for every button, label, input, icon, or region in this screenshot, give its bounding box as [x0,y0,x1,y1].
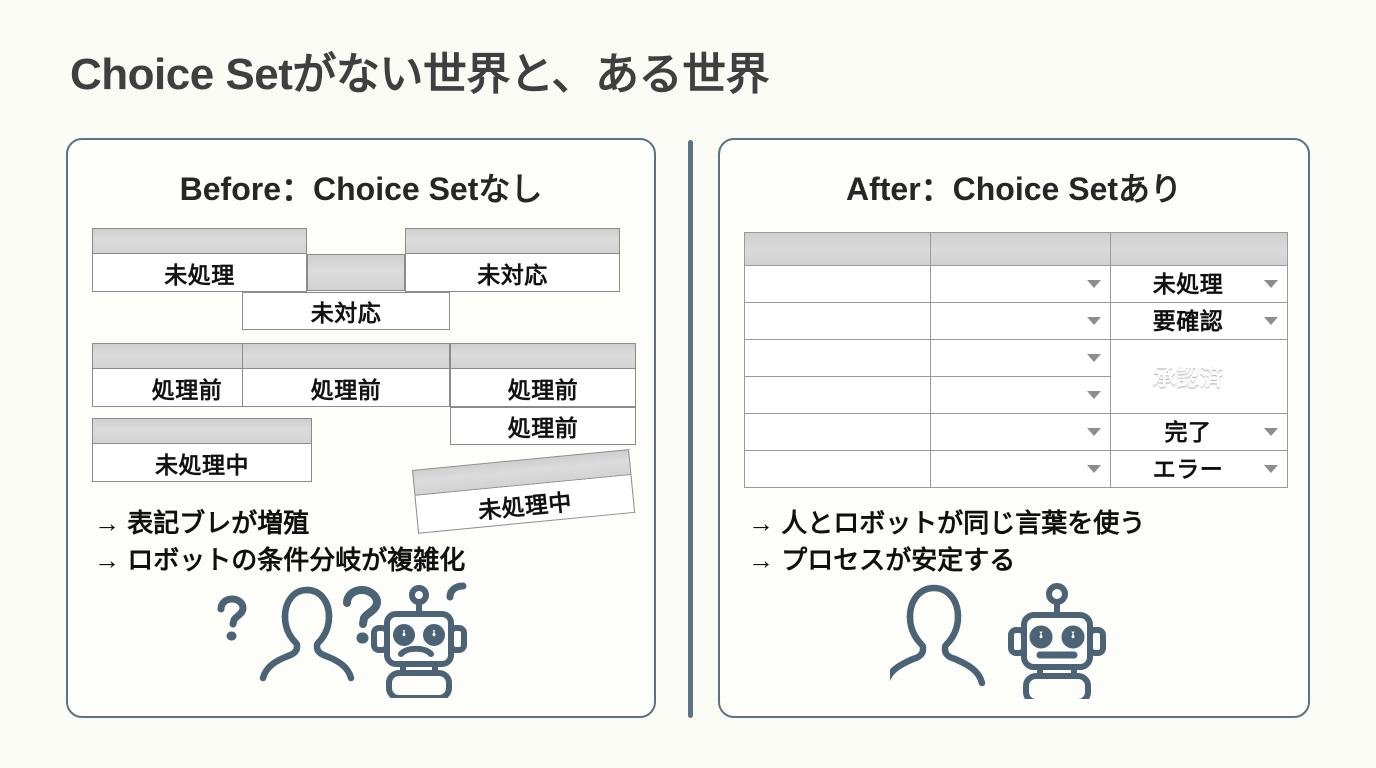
status-dropdown-cell[interactable]: 要確認 [1111,303,1288,340]
chevron-down-icon [1087,391,1101,399]
table-fragment-shorimae-3: 処理前 [450,343,636,407]
table-row: 要確認 [745,303,1288,340]
table-row: 完了 [745,414,1288,451]
chevron-down-icon [1087,354,1101,362]
row-cell-blank[interactable] [745,340,931,377]
person-silhouette-icon [263,590,351,678]
after-panel-title: After：Choice Setあり [720,164,1308,210]
after-bullet-list: → 人とロボットが同じ言葉を使う → プロセスが安定する [748,505,1145,579]
table-fragment-mitaio-2: 未対応 [242,292,450,330]
status-value: エラー [1111,451,1287,487]
row-dropdown-blank[interactable] [931,414,1111,451]
status-dropdown-cell[interactable]: エラー [1111,451,1288,488]
table-fragment-shorimae-4: 処理前 [450,407,636,445]
chevron-down-icon [1264,280,1278,288]
fragment-header [92,418,312,444]
row-dropdown-blank[interactable] [931,377,1111,414]
table-header-row [745,233,1288,266]
status-value: 完了 [1111,414,1287,450]
fragment-cell: 処理前 [450,407,636,445]
table-header-cell-1 [745,233,931,266]
row-dropdown-blank[interactable] [931,451,1111,488]
choice-set-table: 未処理 要確認 承認済 [744,232,1288,488]
table-row: 未処理 [745,266,1288,303]
row-dropdown-blank[interactable] [931,340,1111,377]
page-title: Choice Setがない世界と、ある世界 [70,38,769,102]
table-row: エラー [745,451,1288,488]
chevron-down-icon [1087,428,1101,436]
row-dropdown-blank[interactable] [931,303,1111,340]
status-dropdown-cell-selected[interactable]: 承認済 [1111,340,1288,414]
after-panel: After：Choice Setあり 未処理 [718,138,1310,718]
table-header-cell-3 [1111,233,1288,266]
chevron-down-icon [1087,317,1101,325]
after-bullet-1: → 人とロボットが同じ言葉を使う [748,505,1145,542]
before-bullet-1: → 表記ブレが増殖 [94,505,465,542]
status-dropdown-cell[interactable]: 完了 [1111,414,1288,451]
row-cell-blank[interactable] [745,414,931,451]
chevron-down-icon [1264,373,1278,381]
fragment-cell: 処理前 [242,369,450,407]
fragment-header [242,343,450,369]
row-cell-blank[interactable] [745,377,931,414]
question-mark-icon [221,599,243,636]
table-fragment-mishori-1: 未処理 [92,228,307,292]
table-header-cell-2 [931,233,1111,266]
robot-sad-icon [374,588,464,698]
robot-neutral-icon [1011,586,1103,699]
table-fragment-empty-grey [307,254,405,291]
status-value: 要確認 [1111,303,1287,339]
fragment-cell: 未処理中 [92,444,312,482]
person-silhouette-icon [890,588,982,683]
before-panel: Before：Choice Setなし 未処理 未対応 未対応 処理前 処理前 … [66,138,656,718]
before-bullet-2: → ロボットの条件分岐が複雑化 [94,542,465,579]
chevron-down-icon [1087,280,1101,288]
fragment-header [92,228,307,254]
question-mark-icon [450,586,463,597]
chevron-down-icon [1264,428,1278,436]
fragment-cell: 未対応 [242,292,450,330]
status-value-selected: 承認済 [1111,341,1287,413]
row-cell-blank[interactable] [745,451,931,488]
table-fragment-shorimae-2: 処理前 [242,343,450,407]
table-fragment-mishorichu-1: 未処理中 [92,418,312,482]
before-bullet-list: → 表記ブレが増殖 → ロボットの条件分岐が複雑化 [94,505,465,579]
before-panel-title: Before：Choice Setなし [68,164,654,210]
chevron-down-icon [1264,317,1278,325]
fragment-header [450,343,636,369]
status-value: 未処理 [1111,266,1287,302]
after-icon-group [890,577,1120,704]
row-cell-blank[interactable] [745,303,931,340]
before-icon-group [207,580,467,703]
chevron-down-icon [1264,465,1278,473]
status-dropdown-cell[interactable]: 未処理 [1111,266,1288,303]
chevron-down-icon [1087,465,1101,473]
fragment-cell: 未処理 [92,254,307,292]
fragment-cell: 未対応 [405,254,620,292]
fragment-header [405,228,620,254]
fragment-cell: 処理前 [450,369,636,407]
after-bullet-2: → プロセスが安定する [748,542,1145,579]
row-dropdown-blank[interactable] [931,266,1111,303]
table-fragment-mitaio-1: 未対応 [405,228,620,292]
fragment-header [307,254,405,291]
row-cell-blank[interactable] [745,266,931,303]
panel-divider [688,140,693,718]
table-row: 承認済 [745,340,1288,377]
